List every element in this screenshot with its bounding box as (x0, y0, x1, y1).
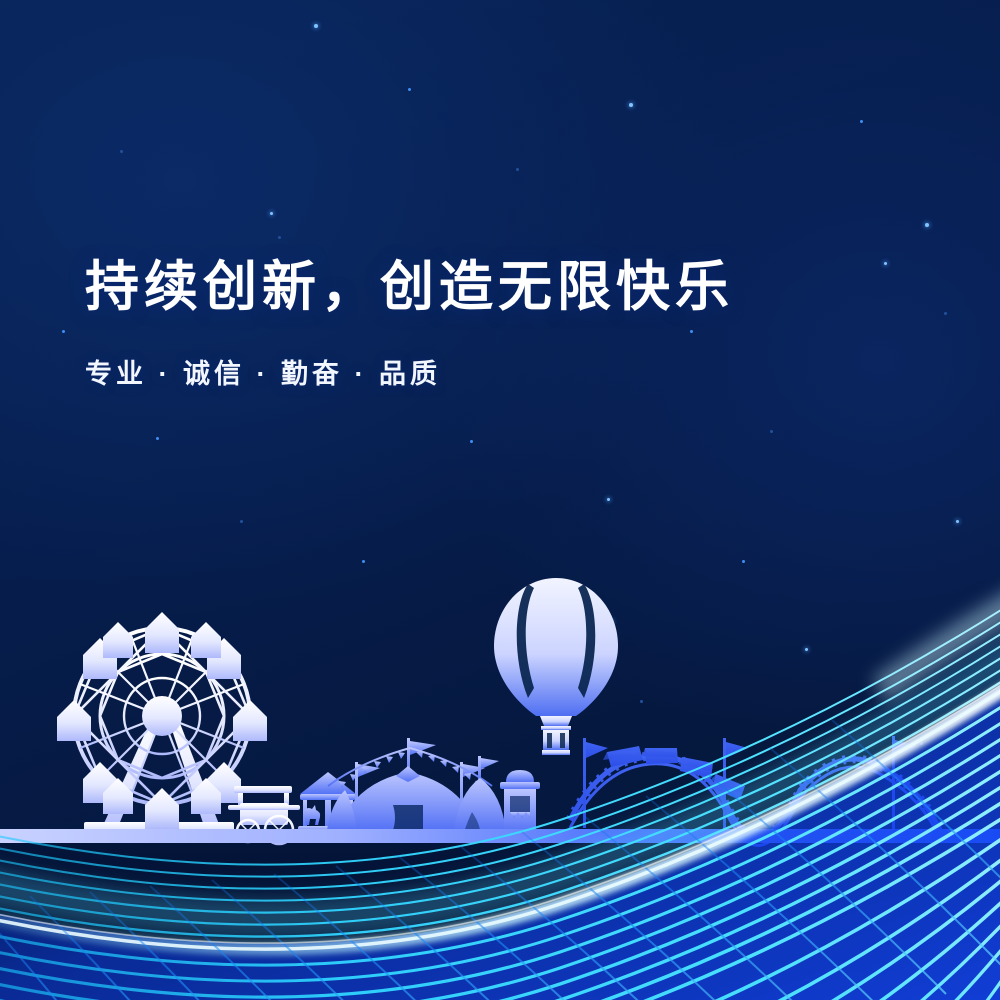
glowing-line-wave (0, 0, 1000, 1000)
banner-subtitle: 专业 · 诚信 · 勤奋 · 品质 (85, 316, 734, 391)
banner-text-block: 持续创新，创造无限快乐 专业 · 诚信 · 勤奋 · 品质 (85, 258, 734, 391)
page-title: 持续创新，创造无限快乐 (85, 258, 734, 316)
banner-stage: 持续创新，创造无限快乐 专业 · 诚信 · 勤奋 · 品质 (0, 0, 1000, 1000)
